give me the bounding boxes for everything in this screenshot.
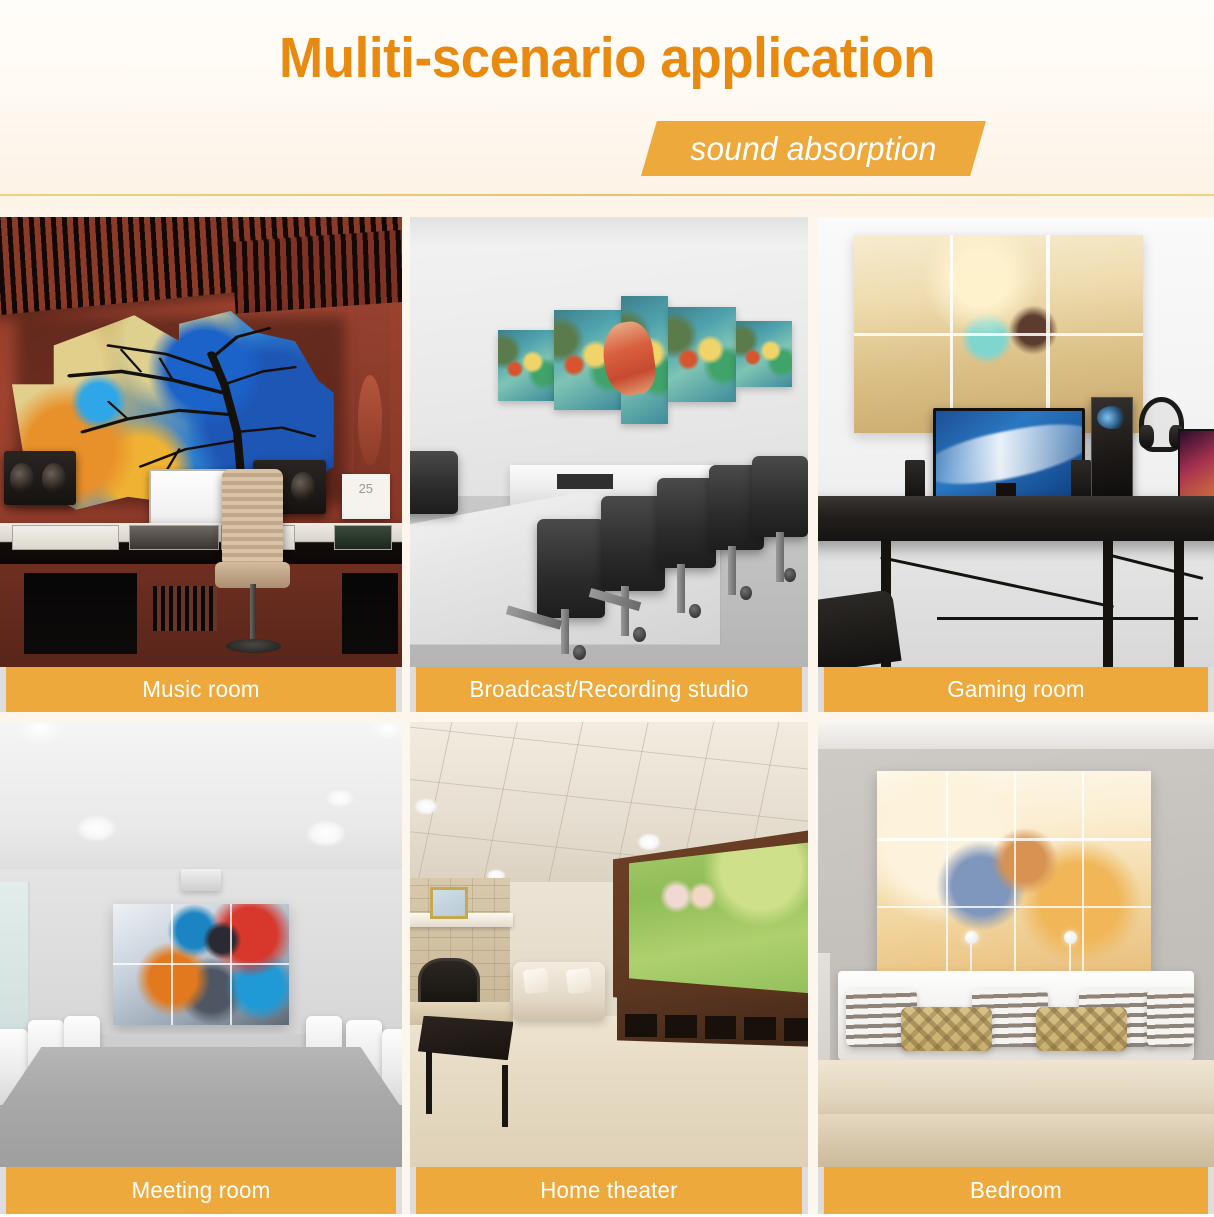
ceiling-projector xyxy=(181,869,221,891)
conference-chair xyxy=(410,451,458,514)
loveseat-sofa xyxy=(513,962,605,1020)
scenario-row-1: 25 xyxy=(0,217,1214,712)
rack-gear-3 xyxy=(334,525,392,550)
studio-monitor-left xyxy=(4,451,76,505)
sound-absorption-label: sound absorption xyxy=(648,121,979,176)
infographic-page: Muliti-scenario application sound absorp… xyxy=(0,0,1214,1214)
secondary-display xyxy=(1178,429,1214,505)
pc-tower xyxy=(1091,397,1133,503)
family-photo-panel-grid xyxy=(877,771,1150,976)
caption-broadcast-recording-studio: Broadcast/Recording studio xyxy=(416,667,802,712)
header: Muliti-scenario application sound absorp… xyxy=(0,0,1214,217)
recessed-light xyxy=(637,833,661,851)
pendant-lamp-bulb xyxy=(965,931,978,944)
mixer-console xyxy=(129,525,219,550)
bed-footboard xyxy=(818,1114,1214,1167)
caption-gaming-room: Gaming room xyxy=(824,667,1208,712)
credenza-slot xyxy=(557,474,613,489)
scenario-card-home-theater[interactable]: Home theater xyxy=(410,722,808,1214)
home-theater-photo xyxy=(410,722,808,1167)
gaming-desk xyxy=(818,496,1214,541)
wall-diffuser-icon xyxy=(358,375,382,465)
caption-meeting-room: Meeting room xyxy=(6,1167,396,1214)
bedroom-photo xyxy=(818,722,1214,1167)
meeting-room-photo xyxy=(0,722,402,1167)
projection-screen xyxy=(629,842,808,993)
desk-opening-right xyxy=(342,573,398,654)
glass-partition xyxy=(0,882,30,1042)
page-title: Muliti-scenario application xyxy=(42,22,1171,94)
desk-opening-left xyxy=(24,573,137,654)
office-chair xyxy=(209,469,301,667)
conference-chair xyxy=(537,519,605,618)
scenario-card-gaming-room[interactable]: Gaming room xyxy=(818,217,1214,712)
five-panel-canvas-art xyxy=(498,294,793,425)
conference-chair xyxy=(601,496,665,591)
caption-bedroom: Bedroom xyxy=(824,1167,1208,1214)
striped-pillow xyxy=(1147,989,1195,1047)
scenario-card-bedroom[interactable]: Bedroom xyxy=(818,722,1214,1214)
desktop-speaker-right xyxy=(1071,460,1091,501)
street-art-panel-grid xyxy=(113,904,290,1024)
caption-home-theater: Home theater xyxy=(416,1167,802,1214)
patterned-pillow xyxy=(1036,1007,1127,1052)
recessed-light xyxy=(306,820,346,847)
caption-music-room: Music room xyxy=(6,667,396,712)
pendant-lamp-bulb xyxy=(1064,931,1077,944)
gaming-room-photo xyxy=(818,217,1214,667)
conference-chair xyxy=(657,478,717,568)
desk-sign: 25 xyxy=(342,474,390,519)
scenario-grid: 25 xyxy=(0,217,1214,1214)
meeting-table xyxy=(0,1047,402,1167)
desktop-speaker-left xyxy=(905,460,925,501)
recessed-light xyxy=(414,798,438,816)
equipment-rack xyxy=(153,586,217,631)
conference-ceiling xyxy=(410,217,808,249)
broadcast-studio-photo xyxy=(410,217,808,667)
conference-chair xyxy=(752,456,808,537)
sound-absorption-banner: sound absorption xyxy=(641,121,986,176)
framed-picture xyxy=(430,887,468,920)
media-shelving xyxy=(617,993,808,1046)
patterned-pillow xyxy=(901,1007,992,1052)
scenario-row-2: Meeting room xyxy=(0,722,1214,1217)
recessed-light xyxy=(76,815,116,842)
header-divider xyxy=(0,194,1214,196)
scenario-card-broadcast-recording-studio[interactable]: Broadcast/Recording studio xyxy=(410,217,808,712)
music-room-photo: 25 xyxy=(0,217,402,667)
rack-gear-1 xyxy=(12,525,119,550)
ceiling-strip xyxy=(818,722,1214,749)
scenario-card-meeting-room[interactable]: Meeting room xyxy=(0,722,402,1214)
gaming-chair xyxy=(818,589,902,667)
recessed-light xyxy=(326,789,354,807)
scenario-card-music-room[interactable]: 25 xyxy=(0,217,402,712)
